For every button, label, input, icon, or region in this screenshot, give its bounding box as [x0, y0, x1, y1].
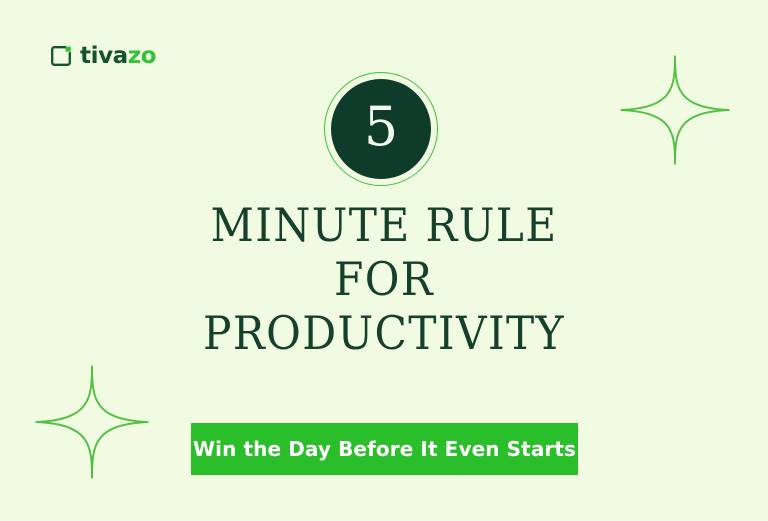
page-title: MINUTE RULE FOR PRODUCTIVITY [0, 198, 768, 360]
number-badge: 5 [324, 72, 438, 186]
open-square-frame-icon [49, 44, 73, 68]
brand-wordmark-primary: tiva [80, 43, 128, 69]
poster-canvas: tivazo 5 MINUTE RULE FOR PRODUCTIVITY Wi… [0, 0, 768, 521]
badge-number: 5 [364, 100, 398, 154]
brand-wordmark: tivazo [80, 45, 156, 68]
four-point-star-icon [34, 364, 150, 480]
badge-disc: 5 [331, 79, 431, 179]
cta-button-label: Win the Day Before It Even Starts [193, 437, 576, 461]
headline-line-2: FOR [31, 252, 738, 306]
brand-wordmark-accent: zo [128, 43, 156, 69]
headline-line-1: MINUTE RULE [31, 198, 738, 252]
headline-line-3: PRODUCTIVITY [31, 306, 738, 360]
cta-button[interactable]: Win the Day Before It Even Starts [191, 423, 578, 475]
brand-logo[interactable]: tivazo [49, 44, 156, 68]
four-point-star-icon [619, 54, 731, 166]
